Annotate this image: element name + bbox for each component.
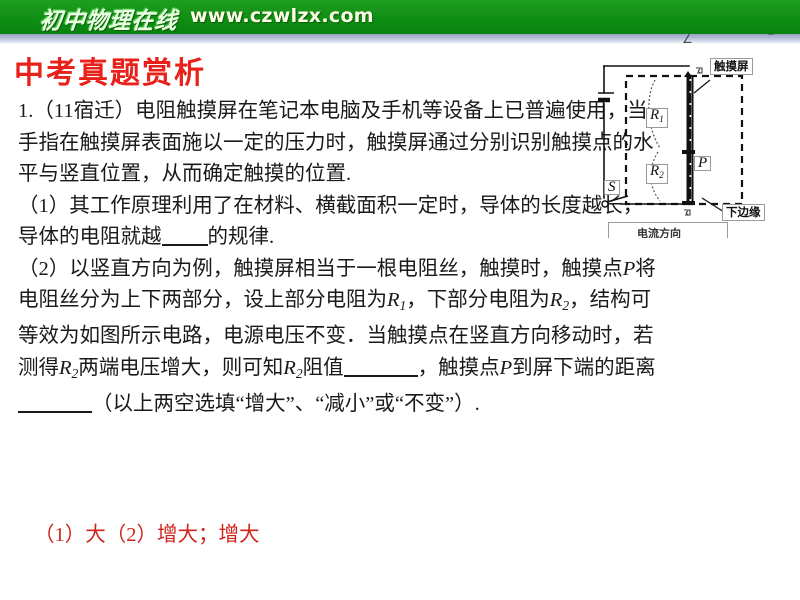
question-stem: 1.（11宿迁）电阻触摸屏在笔记本电脑及手机等设备上已普遍使用，当手指在触摸屏表…: [18, 96, 658, 191]
label-r2-sub: 2: [659, 171, 664, 181]
stray-mark-left-icon: ∠: [682, 32, 693, 47]
part2-text-d: ，下: [406, 289, 447, 311]
question-part-1: （1）其工作原理利用了在材料、横截面积一定时，导体的长度越长，导体的电阻就越的规…: [18, 191, 658, 254]
answer-line: （1）大（2）增大；增大: [34, 521, 260, 549]
part2-text-m: （: [92, 393, 113, 415]
part1-text-c: 的规律.: [208, 226, 275, 248]
part2-text-b: 触摸点: [561, 258, 623, 280]
touchscreen-leader-line: [694, 80, 710, 93]
part2-var-r2c: R: [283, 357, 296, 379]
label-touchscreen: 触摸屏: [710, 58, 753, 75]
part2-text-i: 可知: [242, 357, 283, 379]
slide-page: 初中物理在线 www.czwlzx.com 中考真题赏析 1.（11宿迁）电阻触…: [0, 0, 800, 600]
dashed-box-outer: [690, 76, 742, 204]
question-part-2: （2）以竖直方向为例，触摸屏相当于一根电阻丝，触摸时，触摸点P将电阻丝分为上下两…: [18, 254, 658, 421]
part2-var-p2: P: [500, 357, 513, 379]
answer-blank-1[interactable]: [162, 244, 208, 246]
stray-mark-right-icon: ¯: [768, 32, 774, 47]
part2-text-h: 两端电压增大，则: [78, 357, 242, 379]
label-point-p: P: [694, 156, 711, 171]
label-resistor-r2: R2: [646, 164, 668, 184]
part2-text-k: ，触摸点: [418, 357, 500, 379]
stem-line-1: 电阻触摸屏在笔记本电脑及: [135, 100, 381, 122]
label-r1-var: R: [650, 107, 659, 123]
question-number: 1.（11宿迁）: [18, 100, 135, 122]
part2-text-e: 部分电阻为: [447, 289, 550, 311]
figure-bottom-clipped-box: 电流方向: [608, 222, 728, 238]
circuit-diagram: 触摸屏 R1 R2 P S 下边缘 ∠ ¯ 电流方向: [598, 36, 800, 236]
part2-var-p1: P: [623, 258, 636, 280]
part2-var-r2: R: [550, 289, 563, 311]
circuit-diagram-svg: [598, 36, 800, 236]
stem-line-3: 屏表面施以一定的压力时，触摸屏通过分: [121, 132, 490, 154]
answer-blank-3[interactable]: [18, 411, 92, 413]
label-resistor-r1: R1: [646, 108, 668, 128]
page-title: 中考真题赏析: [14, 48, 206, 92]
part2-text-n: 以上两空选填“增大”、“减小”或“不变”）.: [113, 393, 480, 415]
figure-bottom-clipped-text: 电流方向: [637, 225, 681, 238]
part1-text-a: （1）其工作原理利用了在材料、横截面积一定时，导体的: [18, 195, 541, 217]
part2-var-r2b: R: [59, 357, 72, 379]
site-logo-text: 初中物理在线: [38, 2, 180, 34]
part2-text-j: 阻值: [303, 357, 344, 379]
answer-blank-2[interactable]: [344, 375, 418, 377]
label-lower-edge: 下边缘: [722, 204, 765, 221]
label-switch-s: S: [604, 180, 620, 195]
label-r2-var: R: [650, 163, 659, 179]
part2-sub-r2c: 2: [296, 366, 303, 381]
part2-var-r1: R: [387, 289, 400, 311]
part2-text-a: （2）以竖直方向为例，触摸屏相当于一根电阻丝，触摸时，: [18, 258, 561, 280]
site-banner: 初中物理在线 www.czwlzx.com: [0, 0, 800, 34]
stem-line-5: 定触摸的位置.: [223, 163, 351, 185]
part2-text-l: 到屏下端的距离: [512, 357, 656, 379]
battery-symbol: [598, 93, 614, 100]
site-url-text: www.czwlzx.com: [190, 5, 374, 27]
label-r1-sub: 1: [659, 115, 664, 125]
switch-symbol: [602, 196, 628, 207]
dashed-box-inner: [626, 76, 690, 204]
question-body: 1.（11宿迁）电阻触摸屏在笔记本电脑及手机等设备上已普遍使用，当手指在触摸屏表…: [18, 96, 658, 421]
